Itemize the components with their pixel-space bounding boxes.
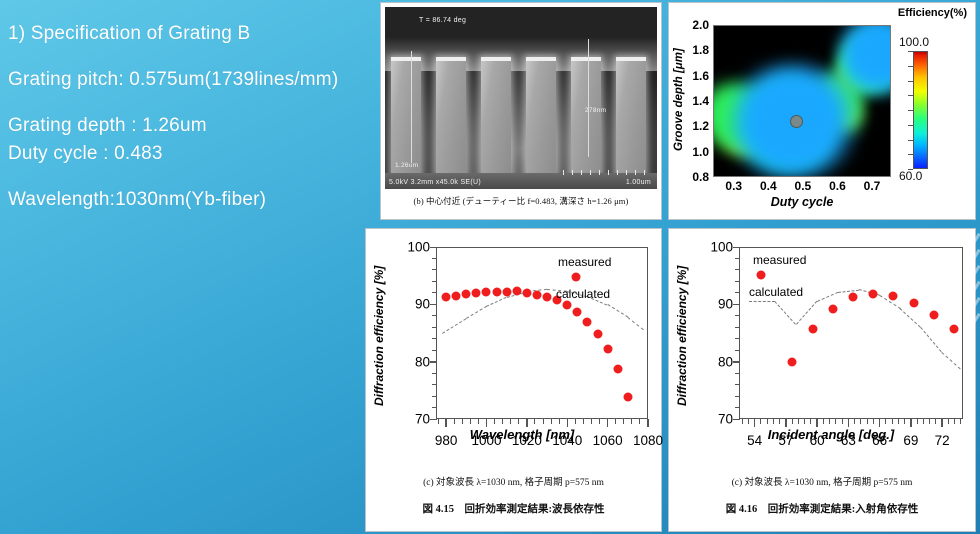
x-axis-minor-tick	[446, 419, 447, 424]
heatmap-x-ticks: 0.30.40.50.60.7	[713, 179, 891, 195]
chart1-caption-line2: 図 4.15 回折効率測定結果:波長依存性	[366, 501, 661, 516]
x-axis-minor-tick	[534, 419, 535, 424]
heatmap-x-tick: 0.5	[795, 179, 812, 193]
y-axis-minor-tick	[432, 281, 436, 282]
measured-data-point	[929, 310, 938, 319]
measured-data-point	[910, 299, 919, 308]
measured-data-point	[573, 307, 582, 316]
measured-data-point	[543, 292, 552, 301]
sem-instrument-info: 5.0kV 3.2mm x45.0k SE(U)	[389, 179, 481, 186]
legend-calculated-label: calculated	[749, 285, 803, 299]
slide-canvas: 1) Specification of Grating B Grating pi…	[0, 0, 980, 534]
x-axis-minor-tick	[885, 419, 886, 424]
measured-data-point	[532, 290, 541, 299]
x-axis-minor-tick	[879, 419, 880, 424]
y-axis-minor-tick	[735, 327, 739, 328]
y-axis-tick-label: 100	[705, 240, 733, 255]
y-axis-minor-tick	[735, 315, 739, 316]
heatmap-y-tick: 1.4	[692, 94, 709, 108]
y-axis-minor-tick	[432, 373, 436, 374]
measured-data-point	[603, 345, 612, 354]
sem-caption: (b) 中心付近 (デューティー比 f=0.483, 溝深さ h=1.26 μm…	[385, 195, 657, 207]
x-axis-minor-tick	[779, 419, 780, 424]
x-axis-minor-tick	[615, 419, 616, 424]
x-axis-minor-tick	[823, 419, 824, 424]
x-axis-minor-tick	[842, 419, 843, 424]
chart1-x-axis-label: Wavelength [nm]	[388, 427, 656, 442]
x-axis-minor-tick	[854, 419, 855, 424]
chart1-y-axis-label: Diffraction efficiency [%]	[370, 241, 388, 431]
y-axis-minor-tick	[735, 361, 739, 362]
x-axis-minor-tick	[760, 419, 761, 424]
x-axis-minor-tick	[873, 419, 874, 424]
colorbar-min-label: 60.0	[899, 169, 922, 183]
sem-micrograph: T = 86.74 deg 1.26um 278nm 5.0kV 3.2mm x…	[385, 7, 657, 189]
measured-data-point	[522, 288, 531, 297]
x-axis-minor-tick	[785, 419, 786, 424]
x-axis-minor-tick	[648, 419, 649, 424]
y-axis-minor-tick	[735, 338, 739, 339]
y-axis-tick-label: 80	[705, 354, 733, 369]
x-axis-minor-tick	[462, 419, 463, 424]
measured-data-point	[848, 293, 857, 302]
measured-data-point	[502, 287, 511, 296]
y-axis-tick-label: 80	[402, 354, 430, 369]
sem-scale-bar-label: 1.00um	[626, 179, 651, 186]
heatmap-y-ticks: 0.81.01.21.41.61.82.0	[685, 25, 711, 177]
measured-data-point	[563, 300, 572, 309]
heatmap-title: Efficiency(%)	[898, 7, 967, 19]
heatmap-x-tick: 0.6	[829, 179, 846, 193]
heatmap-colorbar: 100.0 60.0	[893, 37, 953, 187]
measured-data-point	[788, 358, 797, 367]
y-axis-minor-tick	[432, 407, 436, 408]
x-axis-minor-tick	[829, 419, 830, 424]
x-axis-minor-tick	[510, 419, 511, 424]
measured-data-point	[492, 287, 501, 296]
y-axis-minor-tick	[432, 361, 436, 362]
x-axis-minor-tick	[923, 419, 924, 424]
x-axis-minor-tick	[583, 419, 584, 424]
spec-grating-depth: Grating depth : 1.26um	[8, 114, 378, 138]
plot-frame	[739, 247, 963, 419]
spec-wavelength: Wavelength:1030nm(Yb-fiber)	[8, 188, 378, 212]
x-axis-minor-tick	[591, 419, 592, 424]
x-axis-minor-tick	[454, 419, 455, 424]
efficiency-heatmap-panel: Efficiency(%) Groove depth [μm] 0.81.01.…	[668, 2, 976, 220]
y-axis-minor-tick	[735, 304, 739, 305]
heatmap-y-tick: 1.8	[692, 43, 709, 57]
heatmap-y-tick: 2.0	[692, 18, 709, 32]
x-axis-minor-tick	[478, 419, 479, 424]
x-axis-minor-tick	[948, 419, 949, 424]
measured-data-point	[889, 292, 898, 301]
sem-grating-pillars	[385, 47, 657, 175]
y-axis-minor-tick	[735, 419, 739, 420]
spec-heading: 1) Specification of Grating B	[8, 22, 378, 46]
x-axis-minor-tick	[567, 419, 568, 424]
x-axis-minor-tick	[631, 419, 632, 424]
y-axis-minor-tick	[735, 384, 739, 385]
sem-temperature-label: T = 86.74 deg	[419, 17, 466, 24]
x-axis-minor-tick	[748, 419, 749, 424]
y-axis-tick-label: 90	[705, 297, 733, 312]
x-axis-minor-tick	[810, 419, 811, 424]
y-axis-minor-tick	[432, 327, 436, 328]
spec-grating-pitch: Grating pitch: 0.575um(1739lines/mm)	[8, 68, 378, 92]
x-axis-minor-tick	[742, 419, 743, 424]
chart2-plot-wrapper: 70809010054576063666972measuredcalculate…	[691, 239, 971, 449]
heatmap-y-tick: 1.2	[692, 119, 709, 133]
x-axis-minor-tick	[502, 419, 503, 424]
x-axis-minor-tick	[639, 419, 640, 424]
x-axis-minor-tick	[543, 419, 544, 424]
x-axis-minor-tick	[470, 419, 471, 424]
x-axis-minor-tick	[898, 419, 899, 424]
x-axis-minor-tick	[942, 419, 943, 424]
y-axis-minor-tick	[432, 258, 436, 259]
x-axis-minor-tick	[867, 419, 868, 424]
heatmap-y-tick: 1.6	[692, 69, 709, 83]
y-axis-minor-tick	[735, 281, 739, 282]
colorbar-max-label: 100.0	[899, 35, 929, 49]
x-axis-minor-tick	[518, 419, 519, 424]
y-axis-tick-label: 70	[705, 412, 733, 427]
measured-data-point	[613, 365, 622, 374]
y-axis-minor-tick	[735, 407, 739, 408]
measured-data-point	[472, 288, 481, 297]
measured-data-point	[512, 287, 521, 296]
colorbar-gradient	[913, 51, 928, 169]
x-axis-minor-tick	[438, 419, 439, 424]
x-axis-minor-tick	[904, 419, 905, 424]
sem-image-panel: T = 86.74 deg 1.26um 278nm 5.0kV 3.2mm x…	[380, 2, 662, 220]
x-axis-minor-tick	[892, 419, 893, 424]
x-axis-minor-tick	[848, 419, 849, 424]
y-axis-minor-tick	[432, 292, 436, 293]
sem-scale-ticks	[563, 170, 651, 175]
x-axis-minor-tick	[929, 419, 930, 424]
x-axis-minor-tick	[860, 419, 861, 424]
x-axis-minor-tick	[559, 419, 560, 424]
x-axis-minor-tick	[773, 419, 774, 424]
y-axis-minor-tick	[432, 350, 436, 351]
y-axis-minor-tick	[735, 373, 739, 374]
y-axis-tick-label: 70	[402, 412, 430, 427]
measured-data-point	[462, 290, 471, 299]
sem-width-label: 278nm	[585, 107, 606, 114]
measured-data-point	[482, 287, 491, 296]
spec-duty-cycle: Duty cycle : 0.483	[8, 142, 378, 166]
x-axis-minor-tick	[935, 419, 936, 424]
decorative-chevron	[954, 232, 980, 382]
y-axis-minor-tick	[432, 304, 436, 305]
chart2-y-axis-label: Diffraction efficiency [%]	[673, 241, 691, 431]
chart1-caption-line1: (c) 対象波長 λ=1030 nm, 格子周期 p=575 nm	[366, 474, 661, 488]
x-axis-minor-tick	[767, 419, 768, 424]
legend-measured-label: measured	[753, 253, 806, 267]
calculated-curve-segment	[749, 301, 775, 302]
x-axis-minor-tick	[607, 419, 608, 424]
x-axis-minor-tick	[494, 419, 495, 424]
y-axis-minor-tick	[432, 247, 436, 248]
x-axis-minor-tick	[623, 419, 624, 424]
x-axis-minor-tick	[817, 419, 818, 424]
y-axis-minor-tick	[432, 396, 436, 397]
legend-measured-label: measured	[558, 255, 611, 269]
chart1-plot-wrapper: 70809010098010001020104010601080measured…	[388, 239, 656, 449]
x-axis-minor-tick	[910, 419, 911, 424]
y-axis-minor-tick	[432, 384, 436, 385]
sem-depth-label: 1.26um	[395, 162, 418, 169]
x-axis-minor-tick	[917, 419, 918, 424]
x-axis-minor-tick	[798, 419, 799, 424]
wavelength-chart-panel: Diffraction efficiency [%] 7080901009801…	[365, 228, 662, 532]
measured-data-point	[808, 324, 817, 333]
x-axis-minor-tick	[526, 419, 527, 424]
y-axis-minor-tick	[432, 315, 436, 316]
y-axis-minor-tick	[735, 292, 739, 293]
chart2-caption-line1: (c) 対象波長 λ=1030 nm, 格子周期 p=575 nm	[669, 474, 975, 488]
x-axis-minor-tick	[835, 419, 836, 424]
heatmap-x-tick: 0.4	[760, 179, 777, 193]
x-axis-minor-tick	[575, 419, 576, 424]
specification-text-block: 1) Specification of Grating B Grating pi…	[8, 22, 378, 212]
x-axis-minor-tick	[486, 419, 487, 424]
x-axis-minor-tick	[599, 419, 600, 424]
legend-measured-swatch	[757, 271, 766, 280]
y-axis-minor-tick	[735, 247, 739, 248]
heatmap-x-tick: 0.7	[864, 179, 881, 193]
chart2-x-axis-label: Incident angle [deg.]	[691, 427, 971, 442]
y-axis-minor-tick	[735, 269, 739, 270]
x-axis-minor-tick	[754, 419, 755, 424]
heatmap-plot-area	[713, 25, 891, 177]
heatmap-x-axis-label: Duty cycle	[713, 195, 891, 209]
x-axis-minor-tick	[804, 419, 805, 424]
y-axis-minor-tick	[432, 338, 436, 339]
legend-measured-swatch	[572, 273, 581, 282]
x-axis-minor-tick	[551, 419, 552, 424]
measured-data-point	[623, 393, 632, 402]
measured-data-point	[442, 293, 451, 302]
incident-angle-chart-panel: Diffraction efficiency [%] 7080901005457…	[668, 228, 976, 532]
y-axis-minor-tick	[432, 419, 436, 420]
chart2-caption-line2: 図 4.16 回折効率測定結果:入射角依存性	[669, 501, 975, 516]
measured-data-point	[583, 317, 592, 326]
measured-data-point	[452, 291, 461, 300]
x-axis-minor-tick	[792, 419, 793, 424]
measured-data-point	[869, 290, 878, 299]
heatmap-x-tick: 0.3	[725, 179, 742, 193]
x-axis-minor-tick	[960, 419, 961, 424]
y-axis-minor-tick	[735, 396, 739, 397]
heatmap-y-tick: 0.8	[692, 170, 709, 184]
heatmap-y-tick: 1.0	[692, 145, 709, 159]
plot-frame	[436, 247, 648, 419]
legend-calculated-label: calculated	[556, 287, 610, 301]
y-axis-tick-label: 100	[402, 240, 430, 255]
y-axis-minor-tick	[735, 350, 739, 351]
y-axis-tick-label: 90	[402, 297, 430, 312]
y-axis-minor-tick	[432, 269, 436, 270]
measured-data-point	[593, 329, 602, 338]
x-axis-minor-tick	[954, 419, 955, 424]
y-axis-minor-tick	[735, 258, 739, 259]
measured-data-point	[828, 304, 837, 313]
